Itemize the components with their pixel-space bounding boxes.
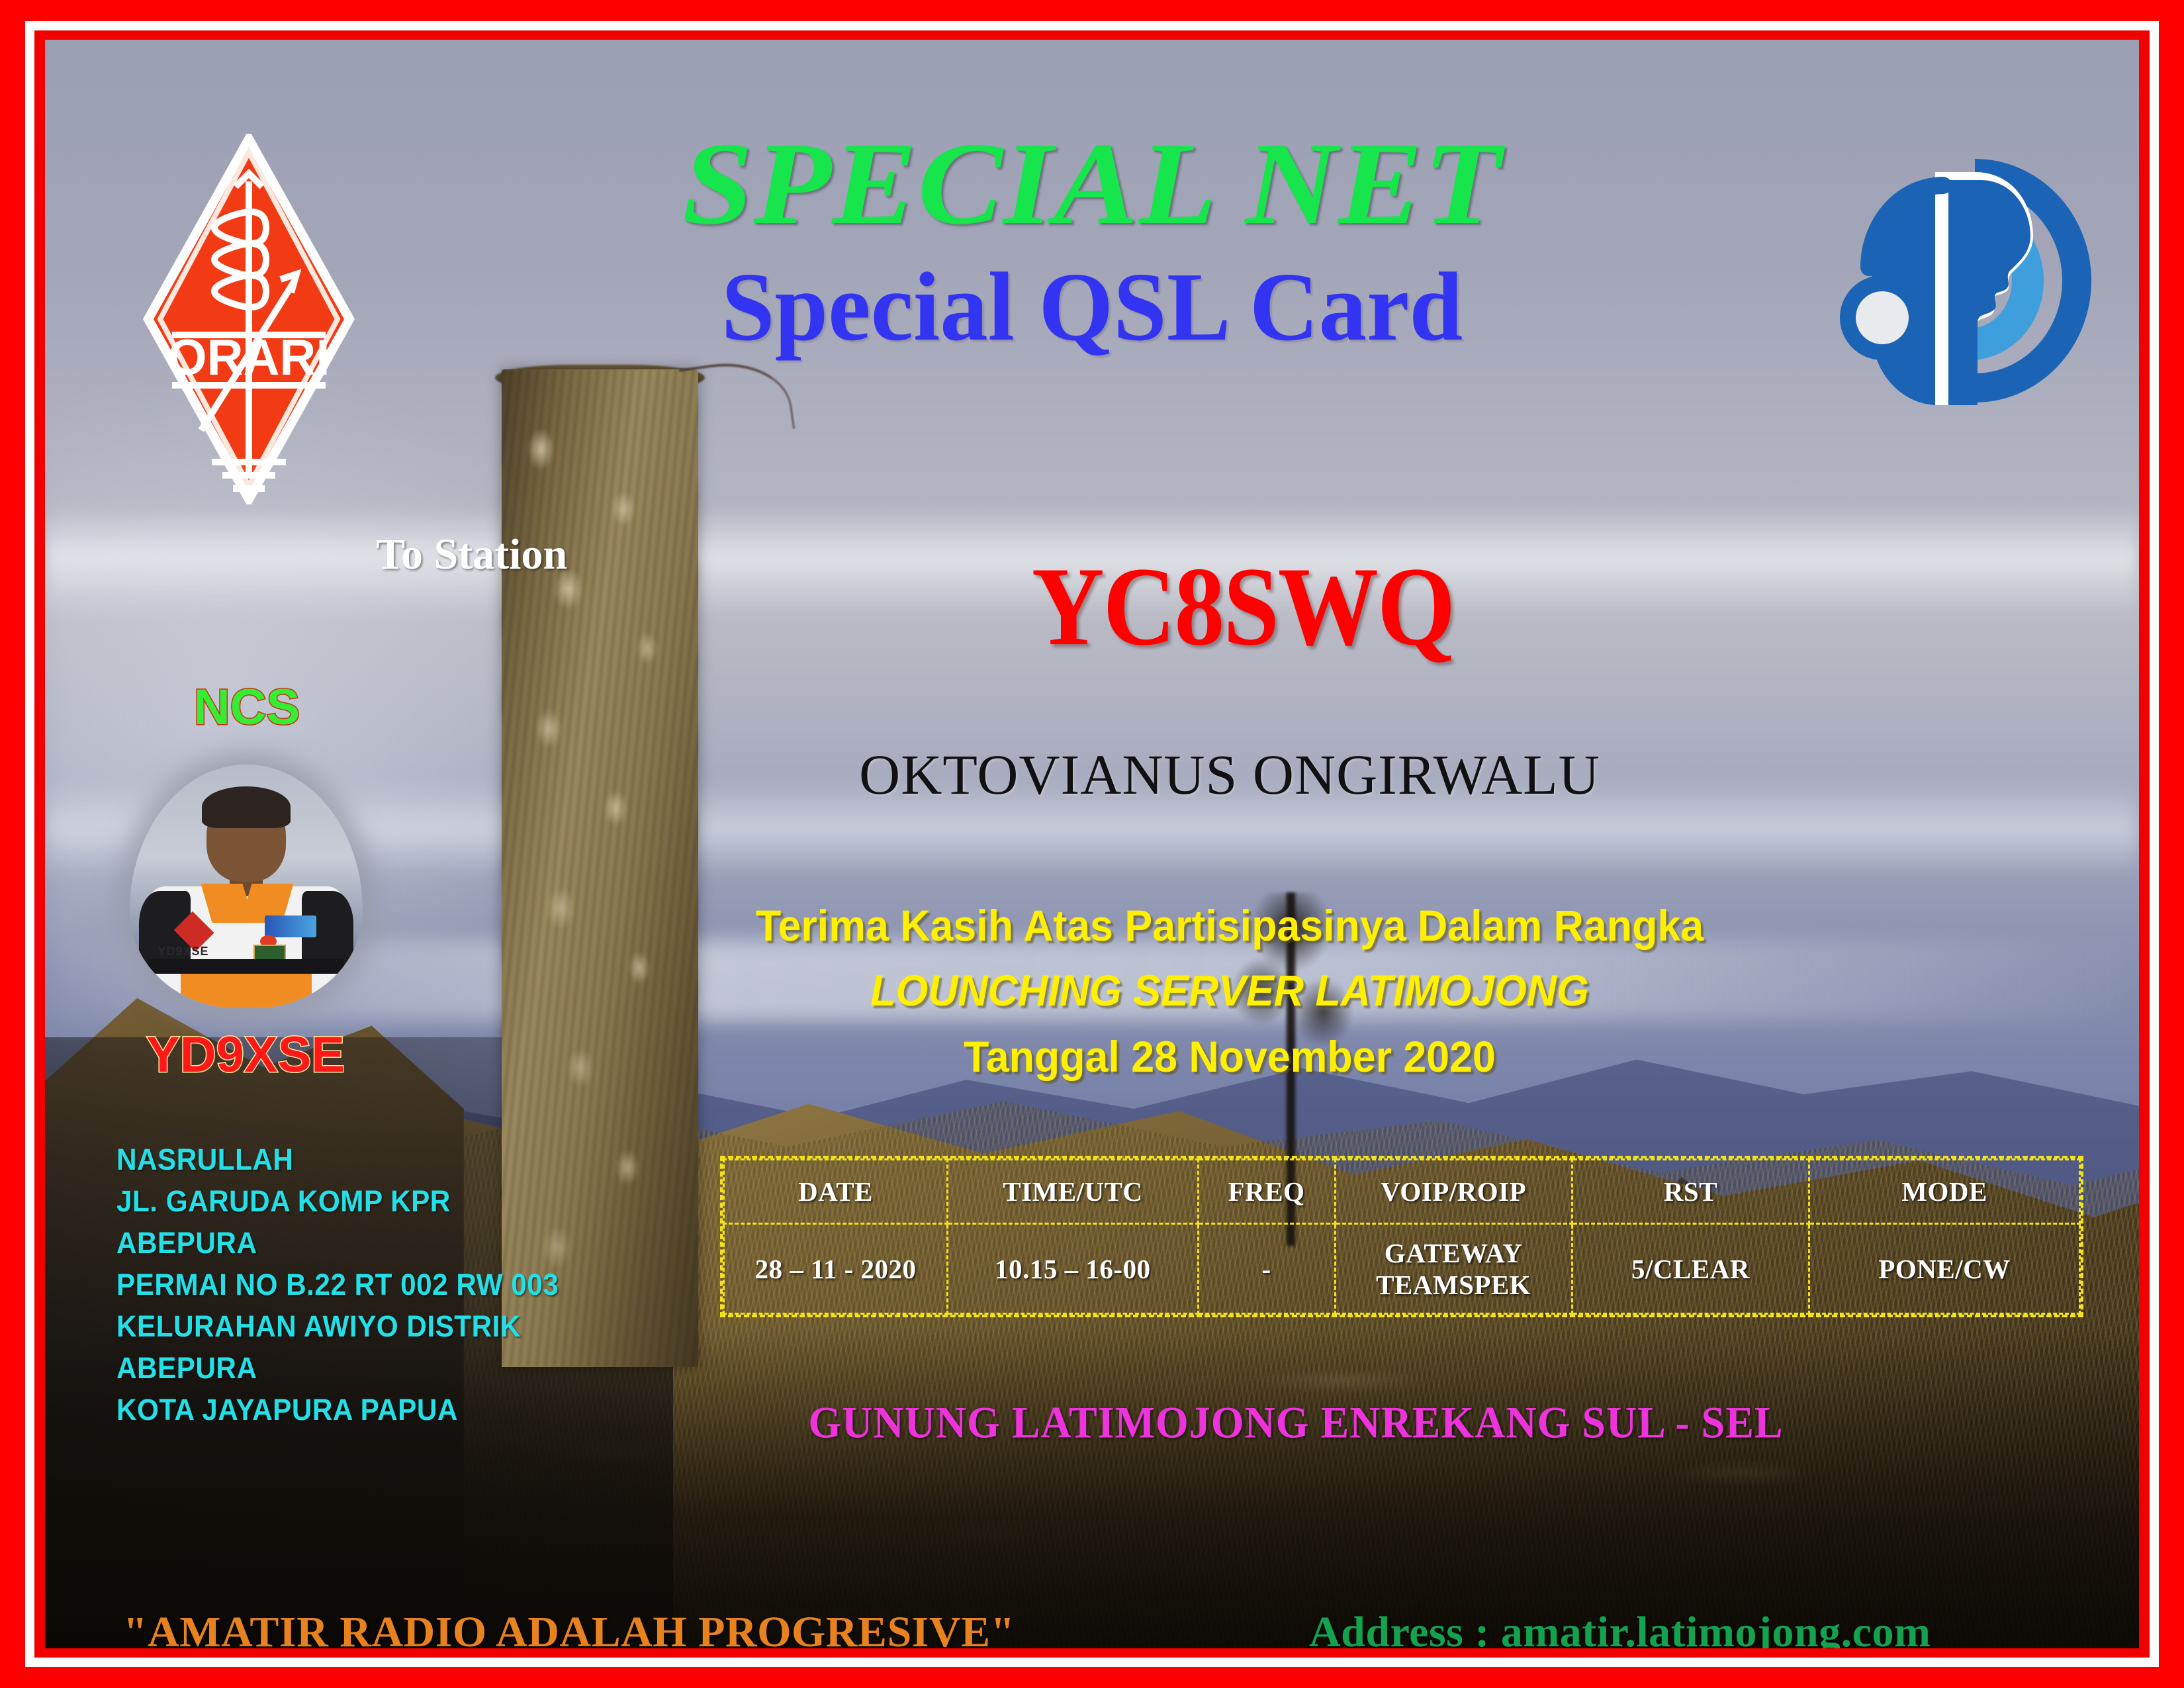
cell-time: 10.15 – 16-00 [948,1224,1199,1314]
event-line: LOUNCHING SERVER LATIMOJONG [733,965,1727,1015]
qso-log-table: DATE TIME/UTC FREQ VOIP/ROIP RST MODE 28… [720,1156,2083,1317]
table-header-row: DATE TIME/UTC FREQ VOIP/ROIP RST MODE [724,1160,2080,1224]
column-header-rst: RST [1572,1160,1809,1224]
address-line: PERMAI NO B.22 RT 002 RW 003 [116,1264,627,1305]
address-line: KELURAHAN AWIYO DISTRIK [116,1305,627,1347]
card-content-layer: ORARI SPE [45,40,2139,1648]
column-header-date: DATE [724,1160,948,1224]
cell-mode: PONE/CW [1809,1224,2080,1314]
ncs-callsign: YD9XSE [116,1026,375,1084]
cell-voip: GATEWAY TEAMSPEK [1335,1224,1572,1314]
column-header-freq: FREQ [1198,1160,1335,1224]
card-background-photo: ORARI SPE [45,40,2139,1648]
thanks-line: Terima Kasih Atas Partisipasinya Dalam R… [733,900,1727,951]
ncs-operator-avatar: YD9XSE [130,765,363,1008]
column-header-mode: MODE [1809,1160,2080,1224]
avatar-hair [202,786,291,828]
address-line: JL. GARUDA KOMP KPR [116,1180,627,1222]
page-title: SPECIAL NET [45,124,2139,242]
address-line: KOTA JAYAPURA PAPUA [116,1389,627,1430]
cell-rst: 5/CLEAR [1572,1224,1809,1314]
event-date-line: Tanggal 28 November 2020 [733,1031,1727,1082]
address-line: NASRULLAH [116,1139,627,1180]
avatar-uniform-stripe [148,959,344,974]
station-callsign: YC8SWQ [958,550,1527,663]
qsl-card: ORARI SPE [0,0,2184,1688]
operator-name: OKTOVIANUS ONGIRWALU [707,741,1752,808]
avatar-uniform-sash [181,974,311,1008]
footer-slogan: "AMATIR RADIO ADALAH PROGRESIVE" [123,1607,1015,1648]
mailing-address: NASRULLAH JL. GARUDA KOMP KPR ABEPURA PE… [116,1139,659,1430]
address-line: ABEPURA [116,1347,627,1389]
to-station-label: To Station [376,530,567,580]
footer-web-address: Address : amatir.latimojong.com [1309,1607,1931,1648]
avatar-chest-badge [265,915,316,937]
avatar-uniform-callsign: YD9XSE [130,945,237,959]
cell-date: 28 – 11 - 2020 [724,1224,948,1314]
cell-freq: - [1198,1224,1335,1314]
page-subtitle: Special QSL Card [66,258,2118,356]
ncs-label: NCS [124,679,369,736]
location-line: GUNUNG LATIMOJONG ENREKANG SUL - SEL [680,1397,1911,1448]
column-header-time: TIME/UTC [948,1160,1199,1224]
column-header-voip: VOIP/ROIP [1335,1160,1572,1224]
table-row: 28 – 11 - 2020 10.15 – 16-00 - GATEWAY T… [724,1224,2080,1314]
address-line: ABEPURA [116,1222,627,1264]
